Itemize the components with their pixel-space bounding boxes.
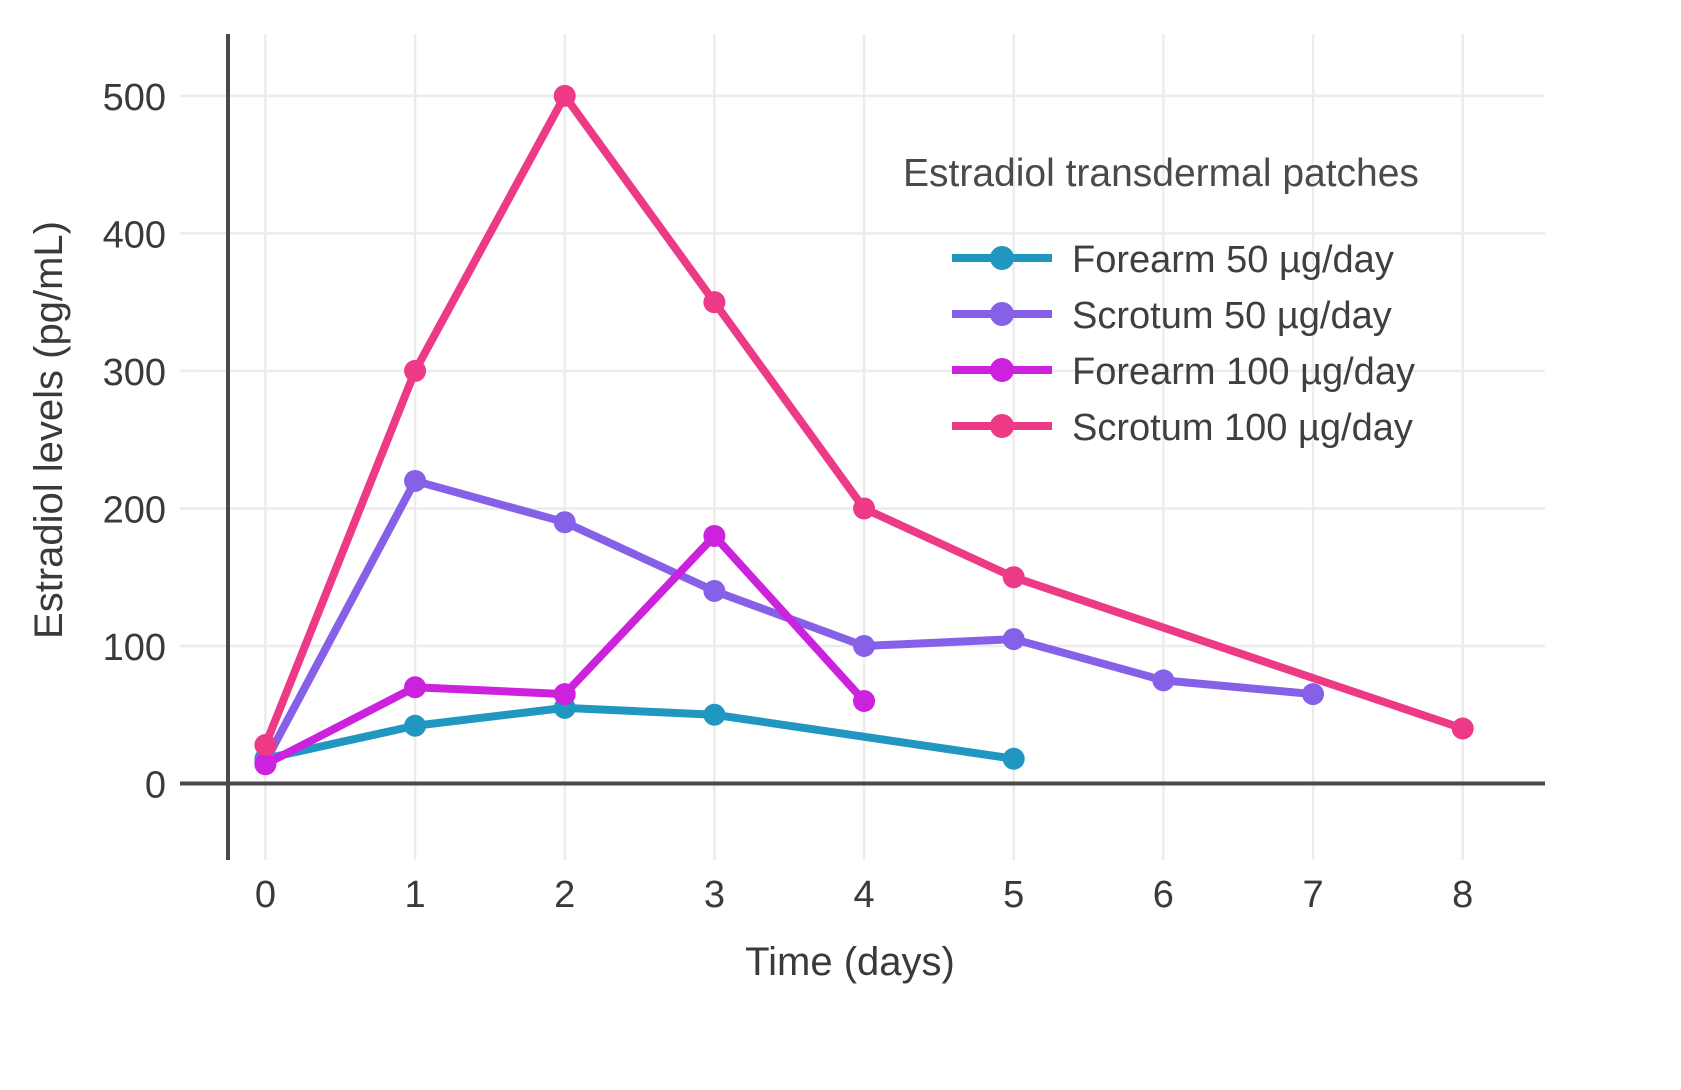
data-point bbox=[404, 360, 426, 382]
x-axis-title: Time (days) bbox=[745, 940, 955, 984]
data-point bbox=[554, 511, 576, 533]
x-tick-label: 8 bbox=[1452, 874, 1473, 916]
legend-item-label: Forearm 50 µg/day bbox=[1072, 239, 1394, 281]
y-tick-label: 500 bbox=[103, 77, 166, 119]
data-point bbox=[703, 525, 725, 547]
data-point bbox=[404, 676, 426, 698]
x-tick-label: 5 bbox=[1003, 874, 1024, 916]
x-axis-tick-labels: 012345678 bbox=[255, 874, 1473, 916]
legend-swatch-marker bbox=[990, 246, 1014, 270]
legend-item-label: Scrotum 100 µg/day bbox=[1072, 407, 1413, 449]
y-tick-label: 400 bbox=[103, 214, 166, 256]
legend-swatch-marker bbox=[990, 358, 1014, 382]
data-point bbox=[1003, 748, 1025, 770]
data-point bbox=[853, 690, 875, 712]
legend-item-label: Scrotum 50 µg/day bbox=[1072, 295, 1392, 337]
legend-item-2[interactable]: Forearm 100 µg/day bbox=[952, 351, 1415, 393]
x-tick-label: 0 bbox=[255, 874, 276, 916]
data-point bbox=[703, 704, 725, 726]
data-point bbox=[853, 635, 875, 657]
data-point bbox=[404, 470, 426, 492]
data-point bbox=[1003, 566, 1025, 588]
legend-item-3[interactable]: Scrotum 100 µg/day bbox=[952, 407, 1413, 449]
y-tick-label: 300 bbox=[103, 352, 166, 394]
x-tick-label: 7 bbox=[1302, 874, 1323, 916]
legend-item-label: Forearm 100 µg/day bbox=[1072, 351, 1415, 393]
legend-title: Estradiol transdermal patches bbox=[903, 152, 1419, 195]
y-tick-label: 0 bbox=[145, 764, 166, 806]
legend-swatch-marker bbox=[990, 414, 1014, 438]
chart-legend: Estradiol transdermal patchesForearm 50 … bbox=[903, 152, 1419, 449]
x-tick-label: 2 bbox=[554, 874, 575, 916]
data-point bbox=[554, 683, 576, 705]
legend-item-0[interactable]: Forearm 50 µg/day bbox=[952, 239, 1394, 281]
line-chart: 012345678 0100200300400500 Estradiol tra… bbox=[0, 0, 1681, 1090]
chart-container: 012345678 0100200300400500 Estradiol tra… bbox=[0, 0, 1681, 1090]
data-point bbox=[1302, 683, 1324, 705]
legend-swatch-marker bbox=[990, 302, 1014, 326]
y-axis-tick-labels: 0100200300400500 bbox=[103, 77, 166, 807]
axis-tickmarks bbox=[180, 96, 200, 784]
y-tick-label: 200 bbox=[103, 489, 166, 531]
data-point bbox=[703, 580, 725, 602]
data-point bbox=[1452, 717, 1474, 739]
x-tick-label: 3 bbox=[704, 874, 725, 916]
data-point bbox=[853, 497, 875, 519]
data-point bbox=[254, 753, 276, 775]
y-tick-label: 100 bbox=[103, 627, 166, 669]
data-point bbox=[254, 734, 276, 756]
x-tick-label: 4 bbox=[853, 874, 874, 916]
data-point bbox=[703, 291, 725, 313]
data-point bbox=[1003, 628, 1025, 650]
series-line bbox=[265, 708, 1013, 759]
data-point bbox=[554, 85, 576, 107]
x-tick-label: 1 bbox=[405, 874, 426, 916]
y-axis-title: Estradiol levels (pg/mL) bbox=[27, 221, 71, 639]
x-tick-label: 6 bbox=[1153, 874, 1174, 916]
data-point bbox=[404, 715, 426, 737]
data-point bbox=[1152, 669, 1174, 691]
legend-item-1[interactable]: Scrotum 50 µg/day bbox=[952, 295, 1392, 337]
